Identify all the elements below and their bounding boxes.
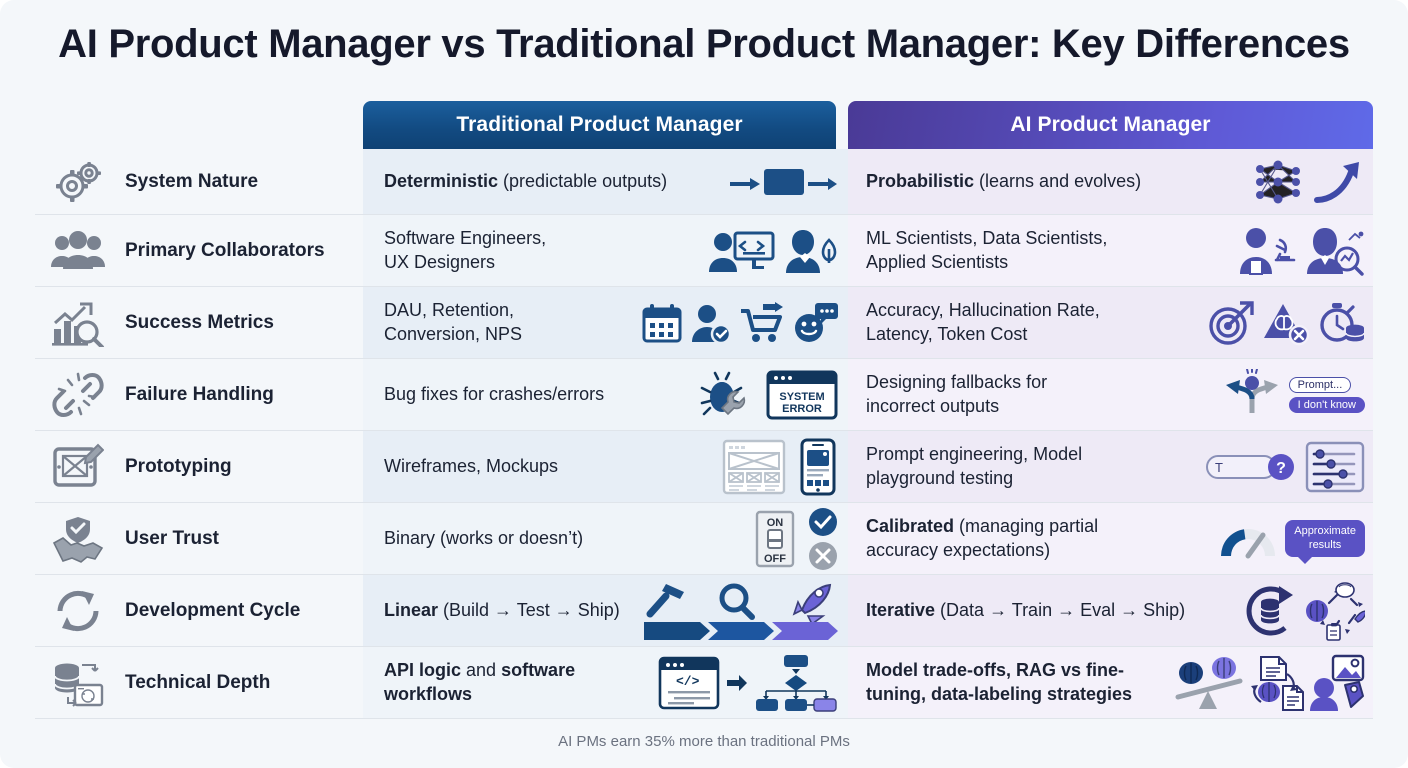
cell-traditional: Binary (works or doesn’t) ON OFF	[363, 503, 848, 574]
toggle-switch-icon: ON OFF	[752, 510, 798, 568]
cell-ai: Iterative (Data → Train → Eval → Ship)	[848, 575, 1373, 646]
mobile-mockup-icon	[798, 438, 838, 496]
cell-ai-text: Accuracy, Hallucination Rate, Latency, T…	[866, 299, 1100, 346]
column-header-ai: AI Product Manager	[848, 101, 1373, 149]
row-icon-cell	[35, 503, 121, 574]
cell-traditional-text: Binary (works or doesn’t)	[384, 527, 583, 550]
code-window-icon: </>	[658, 656, 720, 710]
cell-traditional-text: Bug fixes for crashes/errors	[384, 383, 604, 406]
row-icon-cell	[35, 359, 121, 430]
prompt-input-icon: T ?	[1205, 450, 1297, 484]
cell-ai-text: Iterative (Data → Train → Eval → Ship)	[866, 599, 1185, 622]
row-icon-cell	[35, 431, 121, 502]
database-flow-icon	[51, 659, 105, 707]
cell-ai-text: Model trade-offs, RAG vs fine-tuning, da…	[866, 659, 1166, 706]
cross-icon	[808, 541, 838, 571]
analytics-magnifier-icon	[50, 299, 106, 347]
cloud-brain-icon	[1336, 583, 1354, 597]
cell-traditional-text: Deterministic (predictable outputs)	[384, 170, 667, 193]
system-error-window-icon: SYSTEM ERROR	[766, 369, 838, 421]
table-row: User Trust Binary (works or doesn’t) ON …	[35, 503, 1373, 575]
cell-traditional-text: API logic and software workflows	[384, 659, 614, 706]
cell-traditional-art	[641, 301, 838, 345]
designer-pen-icon	[782, 228, 838, 274]
table-row: Primary Collaborators Software Engineers…	[35, 215, 1373, 287]
cell-traditional: Bug fixes for crashes/errors	[363, 359, 848, 430]
row-label: Technical Depth	[121, 647, 363, 718]
svg-text:OFF: OFF	[764, 553, 786, 565]
developer-screen-icon	[709, 228, 775, 274]
chevron-pipeline-icon	[642, 580, 838, 642]
cell-traditional-art	[728, 163, 838, 201]
cell-ai-art	[1207, 300, 1365, 346]
fork-path-icon	[1219, 369, 1285, 421]
cell-ai: ML Scientists, Data Scientists, Applied …	[848, 215, 1373, 286]
growth-arrow-icon	[1313, 158, 1365, 206]
cell-traditional: DAU, Retention, Conversion, NPS	[363, 287, 848, 358]
cell-traditional: Software Engineers, UX Designers	[363, 215, 848, 286]
row-label: Success Metrics	[121, 287, 363, 358]
row-label: Prototyping	[121, 431, 363, 502]
column-header-traditional-label: Traditional Product Manager	[456, 113, 742, 137]
cell-ai: Designing fallbacks for incorrect output…	[848, 359, 1373, 430]
page-title: AI Product Manager vs Traditional Produc…	[0, 22, 1408, 67]
brain-right	[1212, 657, 1236, 679]
row-icon-cell	[35, 647, 121, 718]
gauge-icon	[1217, 518, 1279, 560]
row-label: Failure Handling	[121, 359, 363, 430]
neural-network-icon	[1250, 157, 1306, 207]
row-label: User Trust	[121, 503, 363, 574]
cell-ai: Model trade-offs, RAG vs fine-tuning, da…	[848, 647, 1373, 718]
arrow-box-arrow-flow-icon	[728, 163, 838, 201]
row-icon-cell	[35, 149, 121, 214]
table-row: Success Metrics DAU, Retention, Conversi…	[35, 287, 1373, 359]
gears-icon	[51, 159, 105, 205]
cell-ai-art	[1245, 581, 1365, 641]
cell-ai-text: Probabilistic (learns and evolves)	[866, 170, 1141, 193]
svg-text:?: ?	[1276, 460, 1286, 477]
refresh-cycle-icon	[52, 587, 104, 635]
cell-traditional: Linear (Build → Test → Ship)	[363, 575, 848, 646]
cell-traditional-text: Linear (Build → Test → Ship)	[384, 599, 620, 622]
cell-ai-art	[1175, 654, 1365, 712]
cell-ai-art: Approximate results	[1217, 518, 1365, 560]
rocket-small-icon	[1355, 611, 1365, 622]
brain-left	[1179, 662, 1203, 684]
document-top	[1261, 657, 1286, 680]
cell-traditional-art	[642, 580, 838, 642]
svg-text:SYSTEM: SYSTEM	[779, 391, 824, 403]
cell-traditional-art	[709, 228, 838, 274]
stopwatch-coins-icon	[1317, 300, 1365, 346]
cell-ai-art	[1250, 157, 1365, 207]
row-label: Primary Collaborators	[121, 215, 363, 286]
cell-traditional-text: DAU, Retention, Conversion, NPS	[384, 299, 522, 346]
cell-ai-art: Prompt... I don't know	[1219, 369, 1365, 421]
svg-text:ON: ON	[767, 517, 784, 529]
cell-traditional-text: Software Engineers, UX Designers	[384, 227, 546, 274]
calendar-icon	[641, 302, 683, 344]
wireframe-icon	[722, 439, 786, 495]
svg-text:ERROR: ERROR	[782, 403, 822, 415]
brain-balance-icon	[1175, 655, 1243, 711]
svg-text:T: T	[1215, 460, 1223, 475]
hammer-icon	[650, 584, 684, 614]
table-row: System Nature Deterministic (predictable…	[35, 149, 1373, 215]
comparison-table: System Nature Deterministic (predictable…	[35, 149, 1373, 719]
row-icon-cell	[35, 215, 121, 286]
cell-ai-text: Prompt engineering, Model playground tes…	[866, 443, 1082, 490]
cell-ai-text: Calibrated (managing partial accuracy ex…	[866, 515, 1098, 562]
rag-cycle-icon	[1247, 654, 1305, 712]
cell-ai: Prompt engineering, Model playground tes…	[848, 431, 1373, 502]
magnifier-icon	[722, 586, 752, 617]
column-header-ai-label: AI Product Manager	[1010, 113, 1210, 137]
approximate-bubble-icon: Approximate results	[1285, 520, 1365, 556]
user-check-icon	[690, 302, 732, 344]
cell-traditional: Deterministic (predictable outputs)	[363, 149, 848, 214]
cell-traditional-art: SYSTEM ERROR	[700, 369, 838, 421]
cell-ai: Accuracy, Hallucination Rate, Latency, T…	[848, 287, 1373, 358]
row-icon-cell	[35, 287, 121, 358]
prompt-bubble-icon: Prompt...	[1289, 377, 1352, 393]
data-loop-icon	[1245, 582, 1301, 640]
data-scientist-chart-icon	[1305, 226, 1365, 276]
svg-text:</>: </>	[676, 674, 700, 689]
cell-ai: Probabilistic (learns and evolves)	[848, 149, 1373, 214]
handshake-shield-icon	[50, 515, 106, 563]
bug-wrench-icon	[700, 370, 756, 420]
infographic-canvas: AI Product Manager vs Traditional Produc…	[0, 0, 1408, 768]
scientist-microscope-icon	[1236, 226, 1298, 276]
shopping-cart-icon	[739, 302, 785, 344]
row-icon-cell	[35, 575, 121, 646]
flowchart-icon	[754, 654, 838, 712]
cell-traditional-text: Wireframes, Mockups	[384, 455, 558, 478]
target-arrow-icon	[1207, 300, 1255, 346]
check-icon	[808, 507, 838, 537]
row-label: System Nature	[121, 149, 363, 214]
broken-chain-icon	[52, 371, 104, 419]
footer-note: AI PMs earn 35% more than traditional PM…	[0, 733, 1408, 750]
cell-traditional-art: </>	[658, 654, 838, 712]
cell-ai-art	[1236, 226, 1365, 276]
idontknow-bubble-icon: I don't know	[1289, 397, 1365, 413]
people-group-icon	[50, 231, 106, 271]
table-row: Prototyping Wireframes, Mockups	[35, 431, 1373, 503]
sliders-panel-icon	[1305, 441, 1365, 493]
data-labeling-icon	[1309, 654, 1365, 712]
cell-traditional-art: ON OFF	[752, 507, 838, 571]
table-row: Technical Depth API logic and software w…	[35, 647, 1373, 719]
cell-traditional: Wireframes, Mockups	[363, 431, 848, 502]
cell-ai-art: T ?	[1205, 441, 1365, 493]
table-row: Failure Handling Bug fixes for crashes/e…	[35, 359, 1373, 431]
cell-ai-text: ML Scientists, Data Scientists, Applied …	[866, 227, 1107, 274]
cell-traditional: API logic and software workflows </>	[363, 647, 848, 718]
sketch-tablet-icon	[52, 443, 104, 491]
cell-traditional-art	[722, 438, 838, 496]
cell-ai-text: Designing fallbacks for incorrect output…	[866, 371, 1047, 418]
cell-ai: Calibrated (managing partial accuracy ex…	[848, 503, 1373, 574]
smiley-chat-icon	[792, 301, 838, 345]
rocket-icon	[794, 585, 830, 624]
clipboard-icon	[1327, 623, 1340, 640]
hallucination-warning-icon	[1262, 300, 1310, 346]
table-row: Development Cycle Linear (Build → Test →…	[35, 575, 1373, 647]
arrow-right-icon	[726, 672, 748, 694]
column-header-traditional: Traditional Product Manager	[363, 101, 836, 149]
brain-cycle-icon	[1303, 581, 1365, 641]
row-label: Development Cycle	[121, 575, 363, 646]
